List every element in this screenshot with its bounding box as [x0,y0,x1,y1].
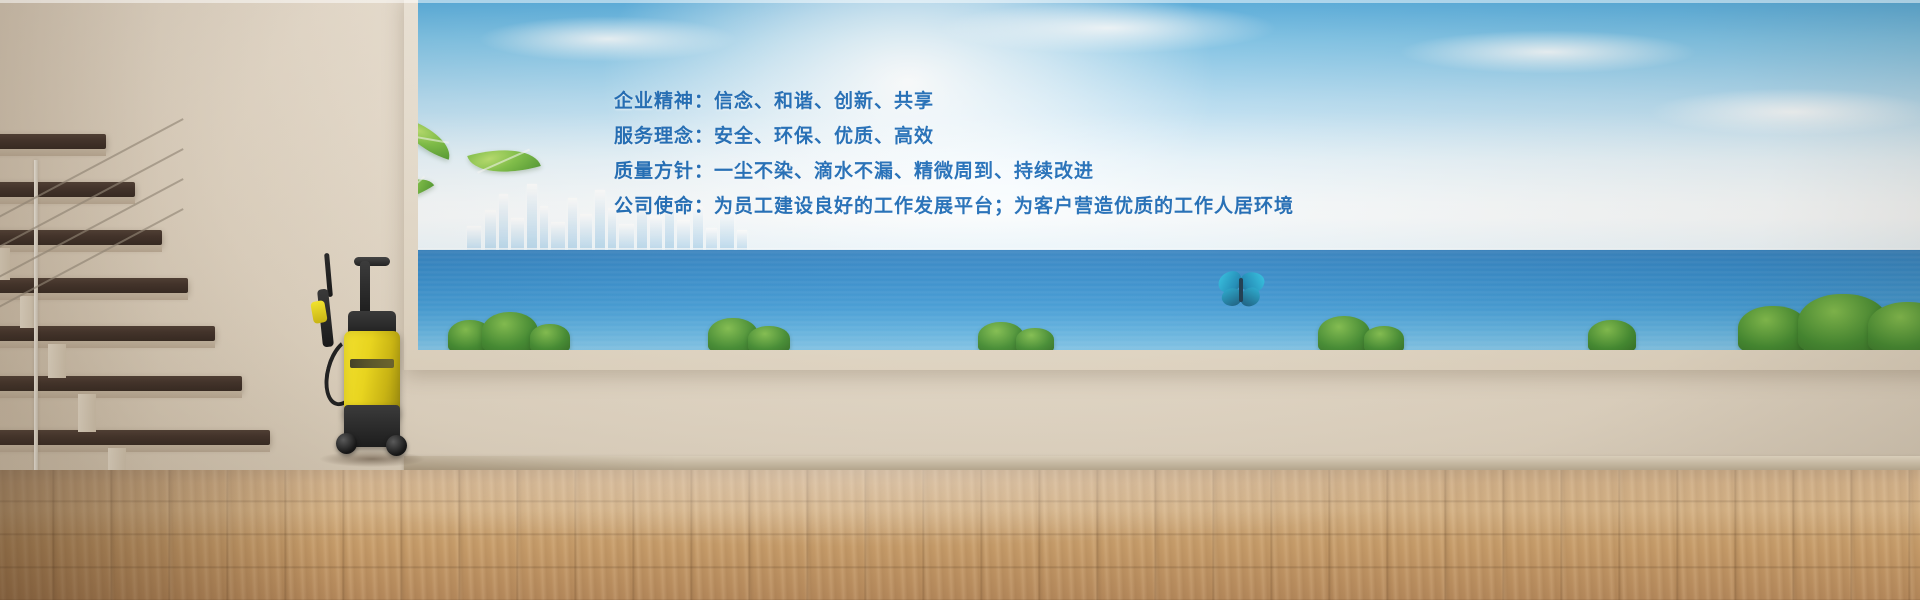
washer-handle [360,261,370,317]
pressure-washer-icon [306,255,430,470]
banner-stage: 企业精神：信念、和谐、创新、共享 服务理念：安全、环保、优质、高效 质量方针：一… [0,0,1920,600]
wood-floor [0,470,1920,600]
washer-wheel [336,433,357,454]
top-edge [0,0,1920,3]
washer-label [350,359,394,368]
washer-wheel [386,435,407,456]
floor-shadow-left [0,470,340,600]
washer-shadow [320,451,424,467]
